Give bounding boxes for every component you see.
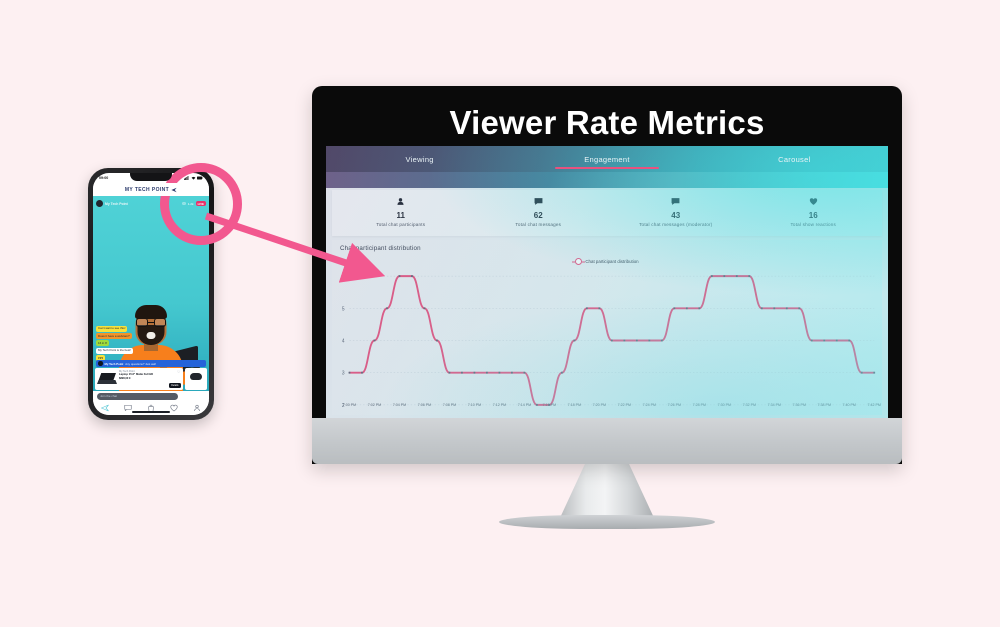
product-card[interactable] <box>185 368 207 390</box>
x-axis-tick: 7:38 PM <box>818 403 831 407</box>
avatar <box>96 200 103 207</box>
status-time: 09:00 <box>99 176 108 180</box>
metric-chat-messages-moderator: 43 Total chat messages (moderator) <box>607 197 745 229</box>
live-badge: LIVE <box>196 201 206 206</box>
chart-title: Chat participant distribution <box>340 245 421 252</box>
x-axis-tick: 7:20 PM <box>593 403 606 407</box>
x-axis-tick: 7:08 PM <box>443 403 456 407</box>
x-axis-tick: 7:22 PM <box>618 403 631 407</box>
send-icon <box>171 187 177 193</box>
page-title: Viewer Rate Metrics <box>312 100 902 146</box>
wifi-icon <box>191 176 196 180</box>
chart-plot-area: 23456 <box>332 268 882 415</box>
app-title: MY TECH POINT <box>125 187 169 193</box>
metric-value: 62 <box>470 210 608 221</box>
monitor-chin <box>312 418 902 464</box>
dashboard-tabs: Viewing Engagement Carousel <box>326 146 888 172</box>
tab-engagement[interactable]: Engagement <box>513 146 700 172</box>
x-axis-tick: 7:18 PM <box>568 403 581 407</box>
monitor-screen: Viewing Engagement Carousel 11 Total cha… <box>326 146 888 421</box>
chart-legend[interactable]: Chat participant distribution <box>332 258 882 265</box>
chat-bubble-icon <box>607 197 745 209</box>
metric-label: Total show reactions <box>745 221 883 229</box>
desktop-monitor: Viewer Rate Metrics Viewing Engagement C… <box>312 86 902 464</box>
x-axis-tick: 7:02 PM <box>368 403 381 407</box>
live-status: 1.2k LIVE <box>182 201 206 206</box>
list-item: My Tech Point is the best! <box>96 348 133 354</box>
phone-app-header: MY TECH POINT <box>93 183 209 196</box>
phone-notch <box>130 173 172 181</box>
chat-input-row: Join the chat <box>97 393 205 401</box>
product-image <box>97 370 117 386</box>
x-axis-tick: 7:34 PM <box>768 403 781 407</box>
share-icon[interactable] <box>194 394 199 399</box>
list-item: Can't wait to see this! <box>96 326 127 332</box>
metric-label: Total chat participants <box>332 221 470 229</box>
host-info-row: My Tech Point 1.2k LIVE <box>96 199 206 208</box>
heart-icon <box>745 197 883 209</box>
pinned-author: My Tech Point <box>105 362 124 366</box>
metric-value: 11 <box>332 210 470 221</box>
stand-base <box>499 515 715 529</box>
tab-viewing[interactable]: Viewing <box>326 146 513 172</box>
home-indicator <box>132 411 170 413</box>
x-axis-tick: 7:24 PM <box>643 403 656 407</box>
stand-neck <box>559 462 655 520</box>
pinned-text: Any questions? Just ask! <box>125 362 156 366</box>
x-axis-tick: 7:00 PM <box>343 403 356 407</box>
legend-marker-icon <box>575 258 582 265</box>
x-axis-tick: 7:06 PM <box>418 403 431 407</box>
metric-chat-participants: 11 Total chat participants <box>332 197 470 229</box>
dashboard: Viewing Engagement Carousel 11 Total cha… <box>326 146 888 421</box>
x-axis-tick: 7:40 PM <box>843 403 856 407</box>
x-axis-tick: 7:16 PM <box>543 403 556 407</box>
viewer-count: 1.2k <box>188 202 194 206</box>
product-card[interactable]: My Tech Point Laptop 15.6" Matte Full HD… <box>95 368 183 390</box>
mouse-icon <box>190 373 202 380</box>
signal-icon <box>184 176 189 180</box>
heart-icon[interactable] <box>187 394 192 399</box>
bag-icon[interactable] <box>147 404 155 412</box>
chart-card: Chat participant distribution Chat parti… <box>332 240 882 415</box>
eye-icon <box>182 202 186 205</box>
x-axis-tick: 7:32 PM <box>743 403 756 407</box>
chat-bubble-icon <box>470 197 608 209</box>
list-item: 16 in ♥ <box>96 340 109 346</box>
x-axis-tick: 7:14 PM <box>518 403 531 407</box>
host-hair <box>135 305 167 319</box>
person-icon[interactable] <box>193 404 201 412</box>
person-icon <box>332 197 470 209</box>
x-axis-tick: 7:04 PM <box>393 403 406 407</box>
x-axis-tick: 7:42 PM <box>868 403 881 407</box>
product-carousel: My Tech Point Laptop 15.6" Matte Full HD… <box>95 368 207 390</box>
tabs-gradient-band <box>326 172 888 188</box>
details-button[interactable]: Details <box>169 383 180 388</box>
metrics-row: 11 Total chat participants 62 Total chat… <box>332 190 882 236</box>
host-name: My Tech Point <box>105 202 128 206</box>
x-axis-tick: 7:36 PM <box>793 403 806 407</box>
svg-text:3: 3 <box>342 371 345 377</box>
laptop-base-icon <box>97 380 117 384</box>
chat-messages-list: Can't wait to see this! Does it have a w… <box>96 326 162 361</box>
pinned-message[interactable]: My Tech Point Any questions? Just ask! <box>96 360 206 367</box>
x-axis-tick: 7:30 PM <box>718 403 731 407</box>
tab-carousel[interactable]: Carousel <box>701 146 888 172</box>
metric-value: 43 <box>607 210 745 221</box>
chat-input[interactable]: Join the chat <box>97 393 178 401</box>
product-price: $896,00 € <box>119 377 181 381</box>
x-axis-tick: 7:10 PM <box>468 403 481 407</box>
status-indicators <box>184 176 203 180</box>
line-chart: 23456 <box>332 268 882 415</box>
metric-value: 16 <box>745 210 883 221</box>
x-axis-tick: 7:28 PM <box>693 403 706 407</box>
battery-icon <box>197 176 203 180</box>
avatar <box>98 361 103 366</box>
svg-text:5: 5 <box>342 306 345 312</box>
legend-label: Chat participant distribution <box>585 259 638 264</box>
bag-icon[interactable] <box>180 394 185 399</box>
x-axis-tick: 7:12 PM <box>493 403 506 407</box>
phone-mockup: 09:00 MY TECH POINT <box>88 168 214 420</box>
heart-icon[interactable] <box>170 404 178 412</box>
send-icon[interactable] <box>101 404 109 412</box>
svg-text:4: 4 <box>342 338 345 344</box>
svg-text:6: 6 <box>342 274 345 280</box>
more-options-icon[interactable] <box>201 394 205 399</box>
scene: Viewer Rate Metrics Viewing Engagement C… <box>0 0 1000 627</box>
metric-label: Total chat messages (moderator) <box>607 221 745 229</box>
x-axis-tick: 7:26 PM <box>668 403 681 407</box>
metric-show-reactions: 16 Total show reactions <box>745 197 883 229</box>
chart-x-axis: 7:00 PM7:02 PM7:04 PM7:06 PM7:08 PM7:10 … <box>332 403 882 411</box>
list-item: Does it have a webcam? <box>96 333 132 339</box>
heart-icon[interactable]: ♡ <box>177 370 180 374</box>
input-action-icons <box>180 394 205 399</box>
metric-chat-messages: 62 Total chat messages <box>470 197 608 229</box>
chat-icon[interactable] <box>124 404 132 412</box>
metric-label: Total chat messages <box>470 221 608 229</box>
